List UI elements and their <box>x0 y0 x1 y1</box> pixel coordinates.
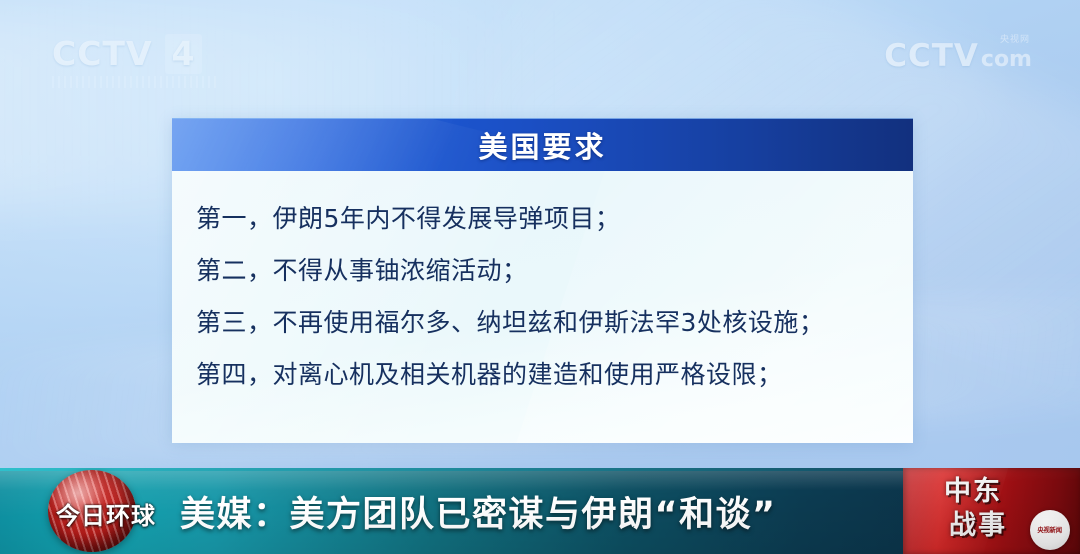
channel-watermark-text: CCTV4 <box>52 34 220 74</box>
list-item: 第二，不得从事铀浓缩活动； <box>196 245 887 297</box>
channel-watermark-name: CCTV <box>52 34 153 73</box>
info-panel: 美国要求 第一，伊朗5年内不得发展导弹项目； 第二，不得从事铀浓缩活动； 第三，… <box>172 118 913 442</box>
news-ticker-banner: 今日环球 美媒：美方团队已密谋与伊朗“和谈” 中东 战事 央视新闻 <box>0 468 1080 554</box>
info-panel-header: 美国要求 <box>172 118 913 171</box>
channel-watermark-bars-icon <box>52 76 220 88</box>
cctv4-channel-watermark-icon: CCTV4 <box>52 34 220 86</box>
site-watermark-name: CCTV <box>884 38 979 74</box>
site-watermark-domain: com <box>981 47 1032 72</box>
site-watermark-cn-label: 央视网 <box>1000 32 1030 45</box>
broadcast-screen: CCTV4 CCTVcom 央视网 美国要求 第一，伊朗5年内不得发展导弹项目；… <box>0 0 1080 554</box>
list-item: 第一，伊朗5年内不得发展导弹项目； <box>196 193 887 245</box>
list-item: 第四，对离心机及相关机器的建造和使用严格设限； <box>196 349 887 401</box>
topic-badge-line1: 中东 <box>944 476 1002 507</box>
program-name-label: 今日环球 <box>24 496 188 531</box>
program-logo: 今日环球 <box>18 468 188 554</box>
channel-watermark-number: 4 <box>165 34 203 74</box>
cctv-news-circle-icon: 央视新闻 <box>1030 510 1070 550</box>
status-badge: 中东 战事 央视新闻 <box>903 468 1080 554</box>
list-item: 第三，不再使用福尔多、纳坦兹和伊斯法罕3处核设施； <box>196 297 887 349</box>
badge-mark-label: 央视新闻 <box>1038 526 1062 535</box>
info-panel-body: 第一，伊朗5年内不得发展导弹项目； 第二，不得从事铀浓缩活动； 第三，不再使用福… <box>172 171 913 443</box>
topic-badge-text: 中东 战事 <box>903 475 1043 543</box>
page-title: 美国要求 <box>478 124 606 166</box>
headline-text: 美媒：美方团队已密谋与伊朗“和谈” <box>180 468 777 554</box>
cctv-com-site-watermark-icon: CCTVcom 央视网 <box>884 38 1032 74</box>
topic-badge-line2: 战事 <box>913 509 1043 543</box>
